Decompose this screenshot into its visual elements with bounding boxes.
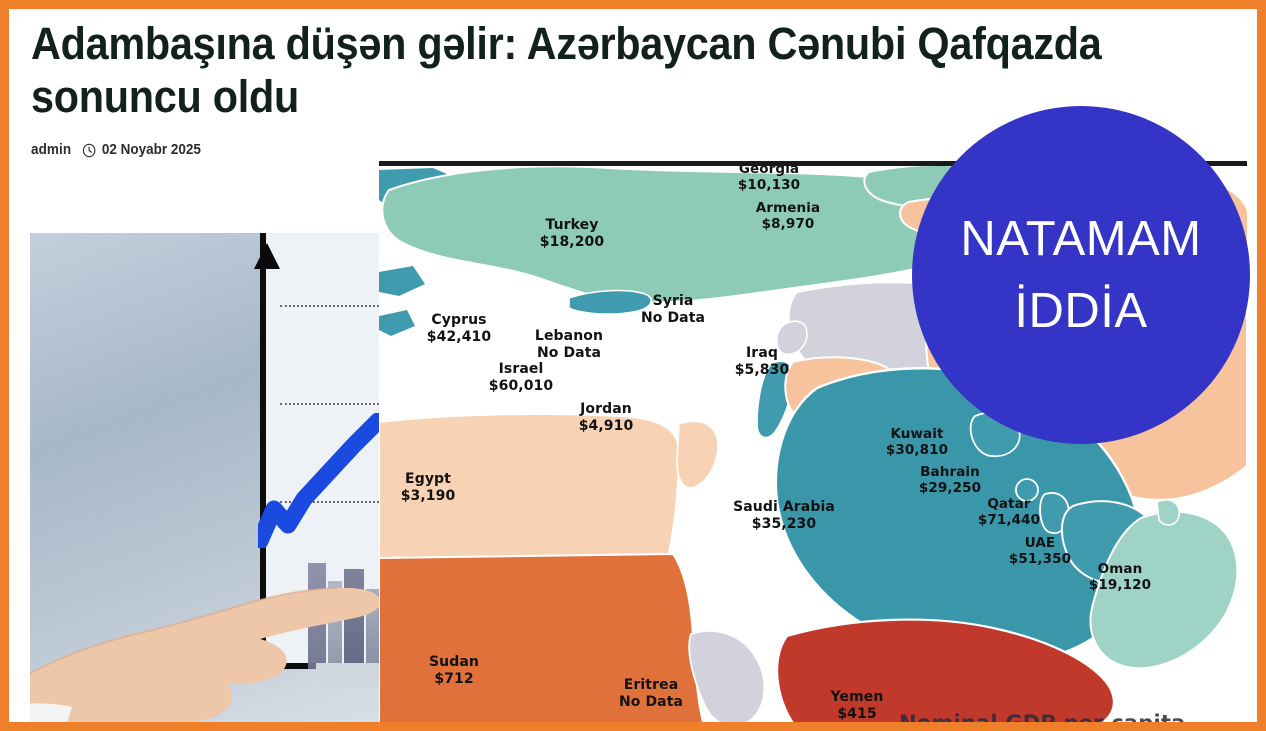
verdict-line-2: İDDİA [1014,276,1147,346]
publish-date: 02 Noyabr 2025 [102,142,201,158]
gridline [280,403,386,405]
up-arrow-icon [254,243,280,269]
region-cyprus [569,291,651,315]
region-sudan [379,554,705,731]
article-photo [30,233,386,731]
article-card: Adambaşına düşən gəlir: Azərbaycan Cənub… [0,0,1266,731]
clock-icon [82,143,96,158]
region-oman-exclave [1157,500,1179,525]
map-caption: Nominal GDP per capita [899,711,1186,731]
author-name: admin [31,142,71,158]
region-egypt [379,414,679,558]
pointing-hand [30,495,386,731]
page-title: Adambaşına düşən gəlir: Azərbaycan Cənub… [31,17,1163,123]
verdict-badge: NATAMAM İDDİA [912,106,1250,444]
publish-date-group: 02 Noyabr 2025 [82,142,200,158]
verdict-line-1: NATAMAM [960,204,1201,274]
gridline [280,305,386,307]
